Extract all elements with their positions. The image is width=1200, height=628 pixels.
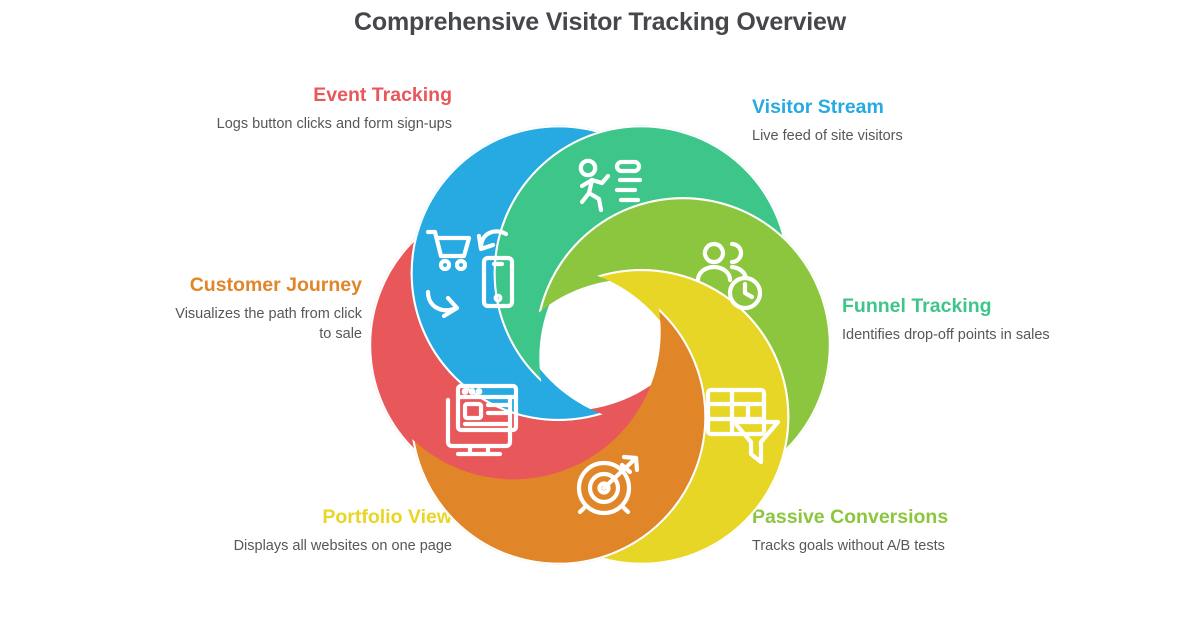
page-title: Comprehensive Visitor Tracking Overview bbox=[0, 8, 1200, 37]
callout-customer-journey: Customer Journey Visualizes the path fro… bbox=[160, 272, 362, 344]
callout-funnel-tracking: Funnel Tracking Identifies drop-off poin… bbox=[842, 293, 1102, 346]
pinwheel-diagram bbox=[370, 88, 830, 588]
callout-description-funnel-tracking: Identifies drop-off points in sales bbox=[842, 326, 1102, 346]
callout-description-customer-journey: Visualizes the path from click to sale bbox=[160, 305, 362, 344]
callout-title-customer-journey: Customer Journey bbox=[160, 272, 362, 298]
pinwheel-petals bbox=[370, 125, 830, 565]
callout-title-funnel-tracking: Funnel Tracking bbox=[842, 293, 1102, 319]
